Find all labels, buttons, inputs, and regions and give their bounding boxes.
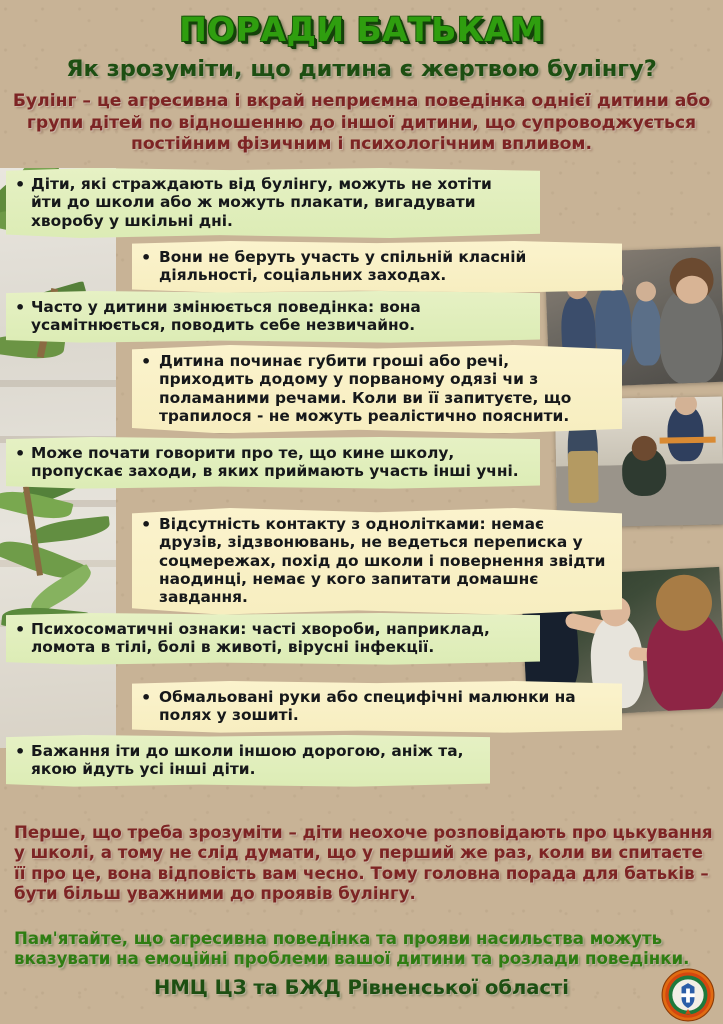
sign-text: Може почати говорити про те, що кине шко… [17,444,527,481]
sign-text: Психосоматичні ознаки: часті хвороби, на… [17,620,527,657]
conclusion-second: Пам'ятайте, що агресивна поведінка та пр… [14,929,713,970]
sign-note-2: • Вони не беруть участь у спільній класн… [132,241,622,293]
bullet-icon: • [15,744,25,760]
bullet-icon: • [141,690,151,706]
sign-note-1: • Діти, які страждають від булінгу, можу… [6,168,540,238]
page-subtitle: Як зрозуміти, що дитина є жертвою булінг… [10,56,713,82]
sign-text: Часто у дитини змінюється поведінка: вон… [17,298,527,335]
bullet-icon: • [15,300,25,316]
sign-note-7: • Психосоматичні ознаки: часті хвороби, … [6,613,540,665]
sign-text: Діти, які страждають від булінгу, можуть… [17,175,527,230]
sign-note-3: • Часто у дитини змінюється поведінка: в… [6,291,540,343]
bullet-icon: • [141,517,151,533]
conclusion-first: Перше, що треба зрозуміти – діти неохоче… [14,823,713,905]
sign-note-5: • Може почати говорити про те, що кине ш… [6,437,540,489]
poster-canvas: ПОРАДИ БАТЬКАМ Як зрозуміти, що дитина є… [0,0,723,1024]
bullet-icon: • [15,177,25,193]
sign-note-9: • Бажання іти до школи іншою дорогою, ан… [6,735,490,787]
bullet-icon: • [15,446,25,462]
bullet-icon: • [141,354,151,370]
bullet-icon: • [15,622,25,638]
bullet-icon: • [141,250,151,266]
sign-note-4: • Дитина починає губити гроші або речі, … [132,345,622,433]
intro-paragraph: Булінг – це агресивна і вкрай неприємна … [12,91,711,156]
sign-note-8: • Обмальовані руки або специфічні малюнк… [132,681,622,733]
rivne-emergency-service-emblem-icon [661,968,715,1022]
sign-text: Дитина починає губити гроші або речі, пр… [143,352,609,425]
sign-text: Відсутність контакту з однолітками: нема… [143,515,609,607]
poster-header: ПОРАДИ БАТЬКАМ Як зрозуміти, що дитина є… [0,0,723,156]
organization-signature: НМЦ ЦЗ та БЖД Рівненської області [0,976,723,999]
sign-text: Бажання іти до школи іншою дорогою, аніж… [17,742,477,779]
page-title: ПОРАДИ БАТЬКАМ [0,10,723,49]
sign-text: Обмальовані руки або специфічні малюнки … [143,688,609,725]
sign-text: Вони не беруть участь у спільній класній… [143,248,609,285]
sign-note-6: • Відсутність контакту з однолітками: не… [132,508,622,615]
